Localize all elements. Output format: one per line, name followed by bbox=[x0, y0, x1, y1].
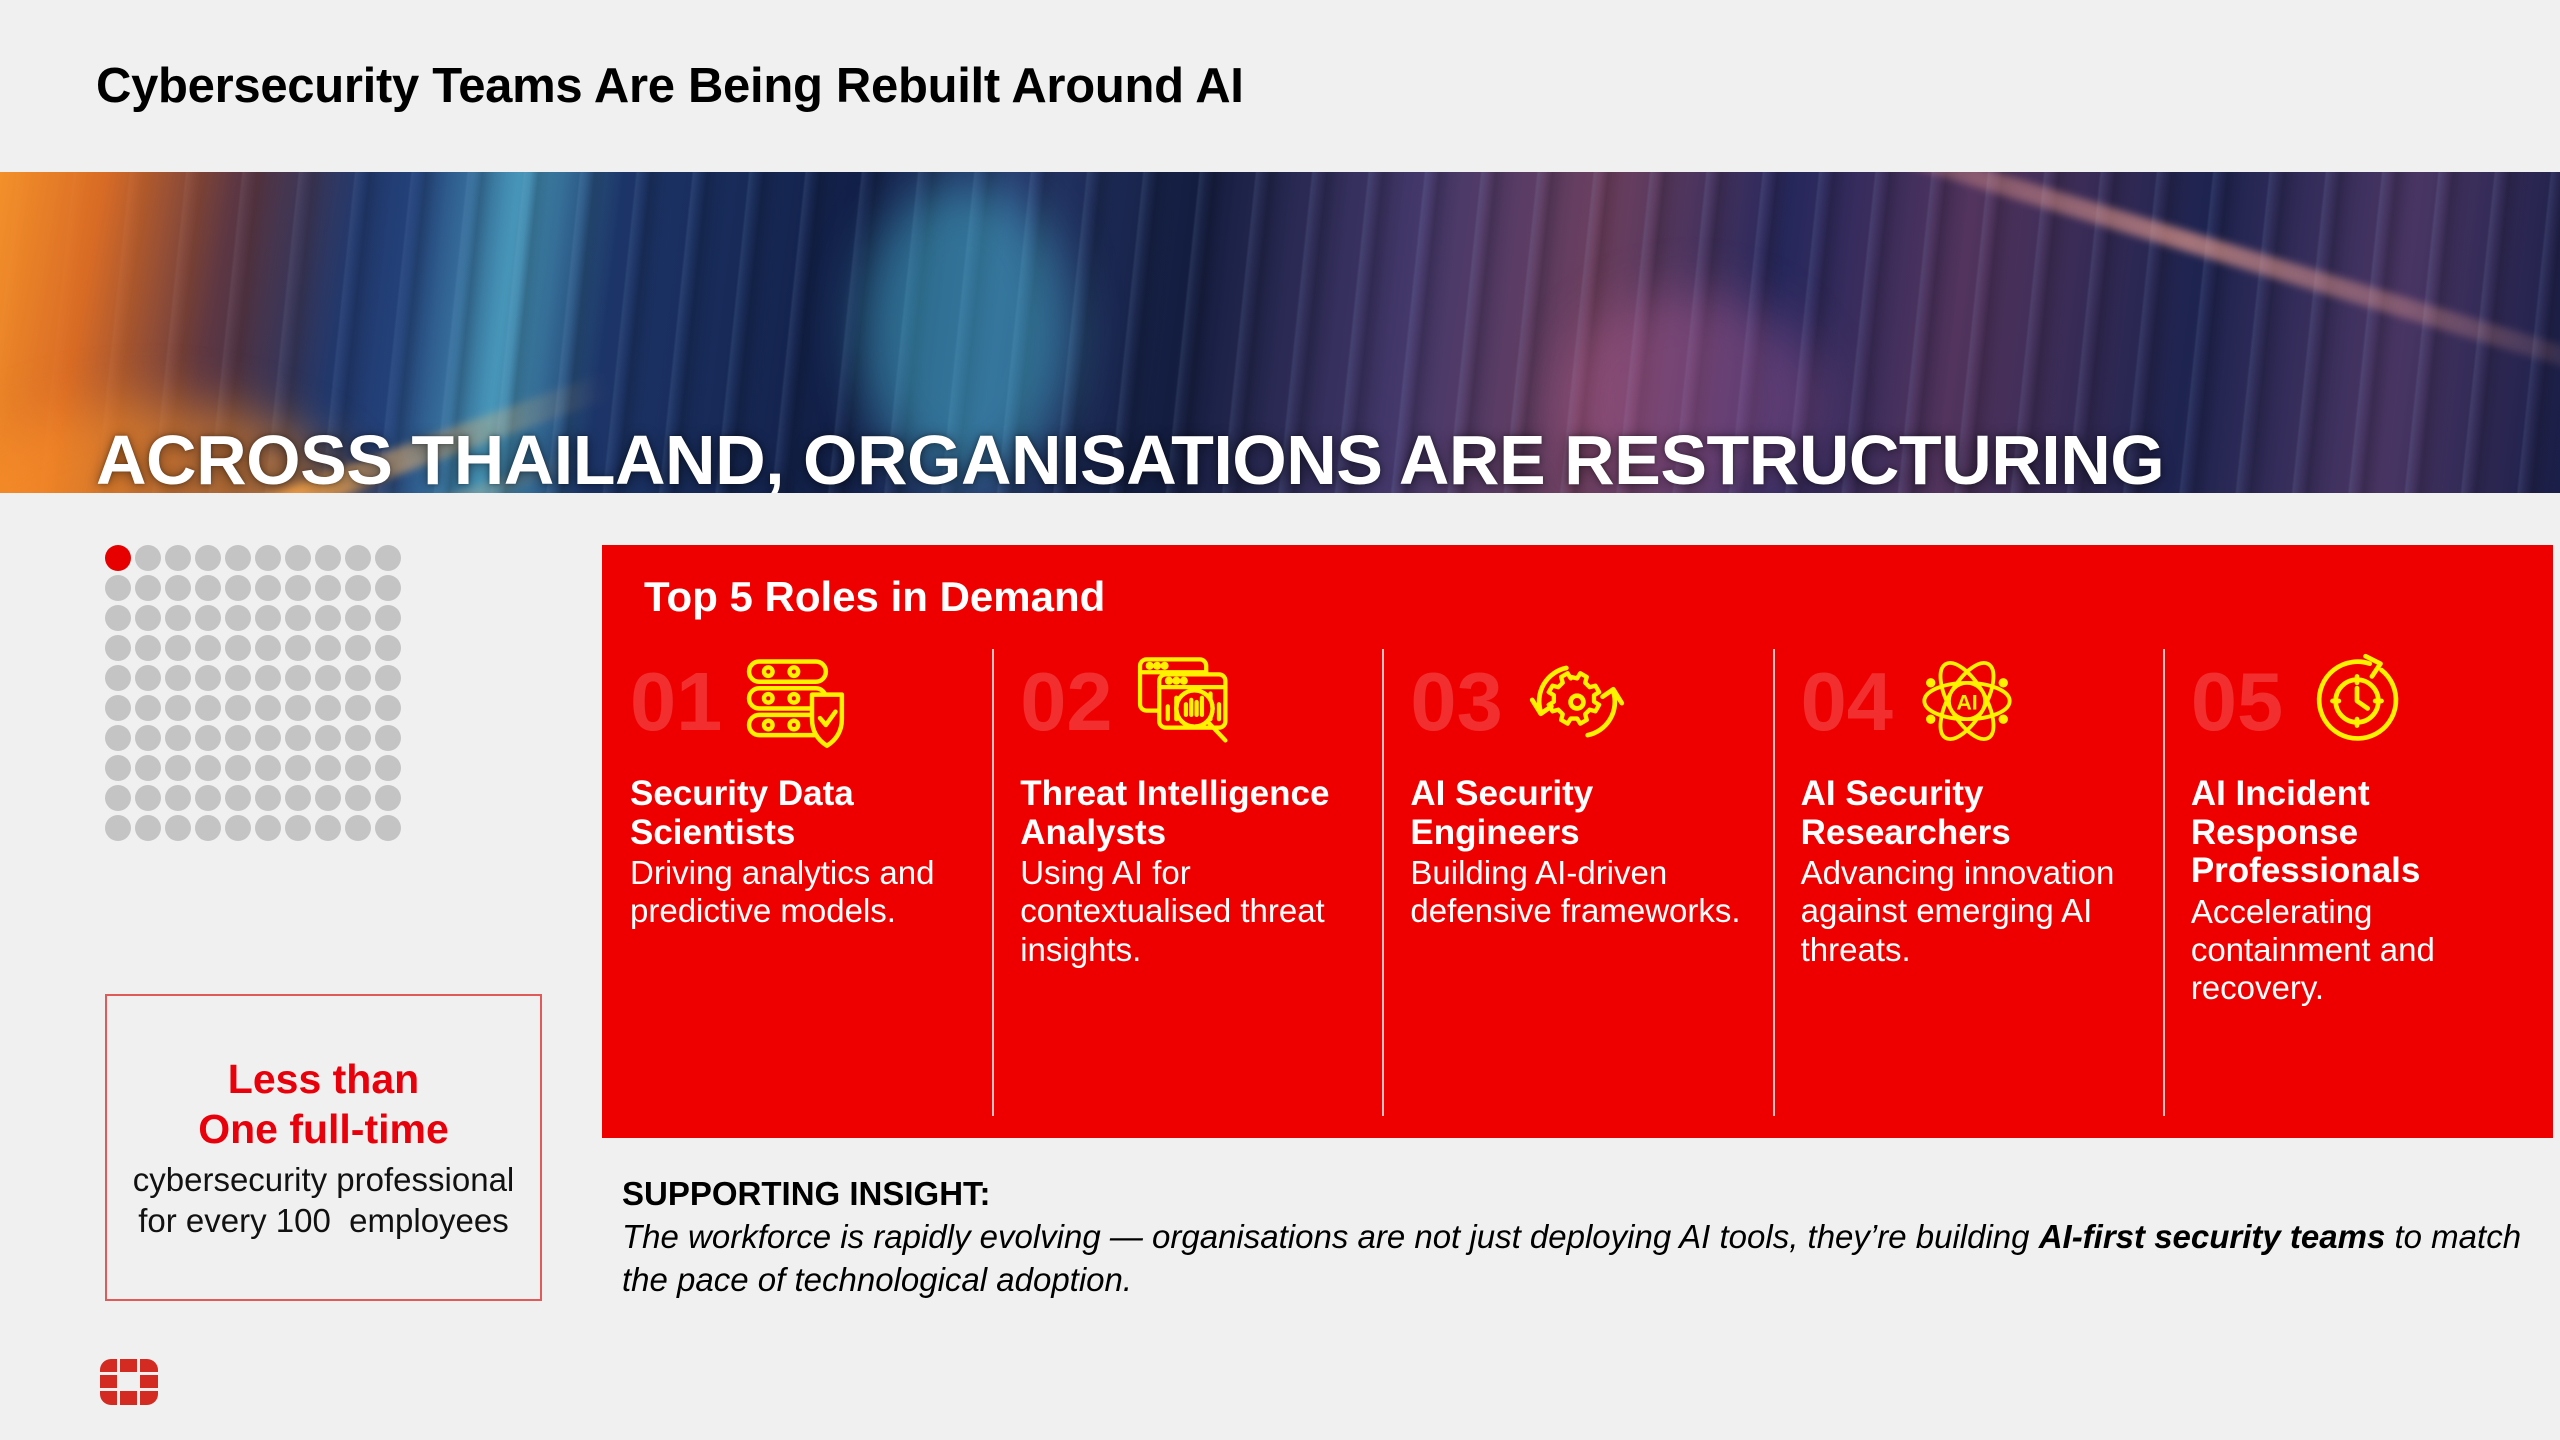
stat-description: cybersecurity professional for every 100… bbox=[123, 1160, 524, 1242]
dot bbox=[375, 695, 401, 721]
role-card-title: AI Security Engineers bbox=[1410, 775, 1746, 852]
dot bbox=[255, 665, 281, 691]
role-card-01[interactable]: 01 Security Dat bbox=[602, 645, 992, 1138]
dot bbox=[345, 725, 371, 751]
dot bbox=[285, 725, 311, 751]
role-card-02[interactable]: 02 bbox=[992, 645, 1382, 1138]
dot bbox=[285, 635, 311, 661]
dot bbox=[315, 815, 341, 841]
dot bbox=[345, 665, 371, 691]
dot bbox=[375, 635, 401, 661]
role-card-description: Using AI for contextualised threat insig… bbox=[1020, 854, 1356, 969]
role-card-number: 01 bbox=[630, 660, 722, 743]
gear-refresh-icon bbox=[1521, 653, 1633, 749]
dot-highlighted bbox=[105, 545, 131, 571]
dot bbox=[105, 605, 131, 631]
stat-headline: Less than One full-time bbox=[198, 1054, 449, 1154]
dot bbox=[225, 695, 251, 721]
role-card-header: 02 bbox=[1020, 645, 1356, 757]
dot bbox=[195, 665, 221, 691]
dot bbox=[285, 665, 311, 691]
dot bbox=[165, 545, 191, 571]
dot bbox=[105, 815, 131, 841]
dot bbox=[225, 815, 251, 841]
dot bbox=[195, 695, 221, 721]
role-card-title: Threat Intelligence Analysts bbox=[1020, 775, 1356, 852]
dot bbox=[135, 695, 161, 721]
role-card-number: 04 bbox=[1801, 660, 1893, 743]
dot bbox=[225, 665, 251, 691]
dot bbox=[255, 815, 281, 841]
roles-card-list: 01 Security Dat bbox=[602, 645, 2553, 1138]
dot bbox=[165, 635, 191, 661]
dot bbox=[285, 695, 311, 721]
dot bbox=[195, 755, 221, 781]
page-title: Cybersecurity Teams Are Being Rebuilt Ar… bbox=[96, 58, 1244, 114]
role-card-05[interactable]: 05 AI Incident Response Professionals Ac… bbox=[2163, 645, 2553, 1138]
stat-headline-line-1: Less than bbox=[198, 1054, 449, 1104]
dot bbox=[165, 755, 191, 781]
dot bbox=[375, 545, 401, 571]
dot bbox=[105, 695, 131, 721]
role-card-description: Building AI-driven defensive frameworks. bbox=[1410, 854, 1746, 931]
dot bbox=[165, 815, 191, 841]
role-card-header: 03 bbox=[1410, 645, 1746, 757]
dot bbox=[135, 755, 161, 781]
dot bbox=[135, 575, 161, 601]
dot bbox=[345, 785, 371, 811]
employee-dot-grid bbox=[105, 545, 405, 845]
dot bbox=[345, 605, 371, 631]
dot bbox=[285, 755, 311, 781]
role-card-04[interactable]: 04 AI bbox=[1773, 645, 2163, 1138]
dot bbox=[225, 755, 251, 781]
dot bbox=[255, 785, 281, 811]
dot bbox=[255, 575, 281, 601]
dot bbox=[375, 755, 401, 781]
dot bbox=[255, 695, 281, 721]
dot bbox=[315, 695, 341, 721]
dot bbox=[315, 755, 341, 781]
dot bbox=[375, 785, 401, 811]
dot bbox=[345, 545, 371, 571]
dot bbox=[345, 695, 371, 721]
dot bbox=[255, 605, 281, 631]
dot bbox=[195, 635, 221, 661]
svg-text:AI: AI bbox=[1956, 691, 1977, 715]
dot bbox=[195, 605, 221, 631]
dot bbox=[165, 695, 191, 721]
hero-headline: ACROSS THAILAND, ORGANISATIONS ARE RESTR… bbox=[96, 420, 2516, 493]
role-card-03[interactable]: 03 AI Security Engineers Building AI- bbox=[1382, 645, 1772, 1138]
dot bbox=[195, 545, 221, 571]
role-card-title: Security Data Scientists bbox=[630, 775, 966, 852]
dot bbox=[345, 575, 371, 601]
dot bbox=[105, 755, 131, 781]
dot bbox=[195, 725, 221, 751]
dot bbox=[255, 725, 281, 751]
dot bbox=[285, 605, 311, 631]
dot bbox=[135, 605, 161, 631]
role-card-number: 05 bbox=[2191, 660, 2283, 743]
roles-panel: Top 5 Roles in Demand 01 bbox=[602, 545, 2553, 1138]
role-card-header: 05 bbox=[2191, 645, 2527, 757]
role-card-number: 02 bbox=[1020, 660, 1112, 743]
dot bbox=[315, 635, 341, 661]
dot bbox=[135, 635, 161, 661]
dot bbox=[225, 545, 251, 571]
dot bbox=[315, 665, 341, 691]
dot bbox=[165, 725, 191, 751]
dot bbox=[285, 575, 311, 601]
fortinet-logo-icon bbox=[100, 1359, 158, 1405]
dot bbox=[195, 785, 221, 811]
dot bbox=[165, 605, 191, 631]
dot bbox=[105, 635, 131, 661]
dot bbox=[165, 665, 191, 691]
dot bbox=[225, 725, 251, 751]
dot bbox=[345, 815, 371, 841]
dot bbox=[315, 545, 341, 571]
dot bbox=[135, 665, 161, 691]
dot bbox=[375, 575, 401, 601]
title-bar: Cybersecurity Teams Are Being Rebuilt Ar… bbox=[0, 0, 2560, 172]
insight-text-bold: AI-first security teams bbox=[2039, 1218, 2386, 1255]
hero-headline-line-1: ACROSS THAILAND, ORGANISATIONS ARE RESTR… bbox=[96, 420, 2516, 493]
dot bbox=[285, 785, 311, 811]
dot bbox=[255, 545, 281, 571]
supporting-insight-body: The workforce is rapidly evolving — orga… bbox=[622, 1216, 2522, 1302]
dot bbox=[225, 785, 251, 811]
stat-headline-line-2: One full-time bbox=[198, 1104, 449, 1154]
dot bbox=[105, 785, 131, 811]
dot bbox=[345, 635, 371, 661]
role-card-title: AI Security Researchers bbox=[1801, 775, 2137, 852]
dot bbox=[165, 785, 191, 811]
dot bbox=[105, 725, 131, 751]
dot bbox=[195, 575, 221, 601]
dot bbox=[255, 755, 281, 781]
dot bbox=[315, 785, 341, 811]
role-card-description: Advancing innovation against emerging AI… bbox=[1801, 854, 2137, 969]
dot bbox=[375, 815, 401, 841]
dot bbox=[345, 755, 371, 781]
dot bbox=[255, 635, 281, 661]
server-shield-icon bbox=[740, 653, 852, 749]
dot bbox=[285, 545, 311, 571]
slide-root: Cybersecurity Teams Are Being Rebuilt Ar… bbox=[0, 0, 2560, 1440]
dot bbox=[225, 575, 251, 601]
dot bbox=[315, 575, 341, 601]
role-card-header: 01 bbox=[630, 645, 966, 757]
dot bbox=[165, 575, 191, 601]
dot bbox=[225, 635, 251, 661]
dot bbox=[285, 815, 311, 841]
chart-window-search-icon bbox=[1131, 653, 1243, 749]
insight-text-part-1: The workforce is rapidly evolving — orga… bbox=[622, 1218, 2039, 1255]
dot bbox=[135, 785, 161, 811]
dot bbox=[375, 725, 401, 751]
clock-refresh-icon bbox=[2301, 653, 2413, 749]
supporting-insight-label: SUPPORTING INSIGHT: bbox=[622, 1175, 2522, 1213]
stat-callout-box: Less than One full-time cybersecurity pr… bbox=[105, 994, 542, 1301]
dot bbox=[225, 605, 251, 631]
dot bbox=[135, 725, 161, 751]
dot bbox=[135, 545, 161, 571]
dot bbox=[375, 605, 401, 631]
role-card-title: AI Incident Response Professionals bbox=[2191, 775, 2527, 891]
roles-panel-title: Top 5 Roles in Demand bbox=[644, 573, 1105, 621]
dot bbox=[105, 665, 131, 691]
role-card-number: 03 bbox=[1410, 660, 1502, 743]
hero-banner: ACROSS THAILAND, ORGANISATIONS ARE RESTR… bbox=[0, 172, 2560, 493]
dot bbox=[315, 605, 341, 631]
dot bbox=[135, 815, 161, 841]
dot bbox=[105, 575, 131, 601]
dot bbox=[315, 725, 341, 751]
supporting-insight: SUPPORTING INSIGHT: The workforce is rap… bbox=[622, 1175, 2522, 1302]
dot bbox=[375, 665, 401, 691]
role-card-description: Accelerating containment and recovery. bbox=[2191, 893, 2527, 1008]
dot bbox=[195, 815, 221, 841]
role-card-description: Driving analytics and predictive models. bbox=[630, 854, 966, 931]
atom-ai-icon: AI bbox=[1911, 653, 2023, 749]
role-card-header: 04 AI bbox=[1801, 645, 2137, 757]
